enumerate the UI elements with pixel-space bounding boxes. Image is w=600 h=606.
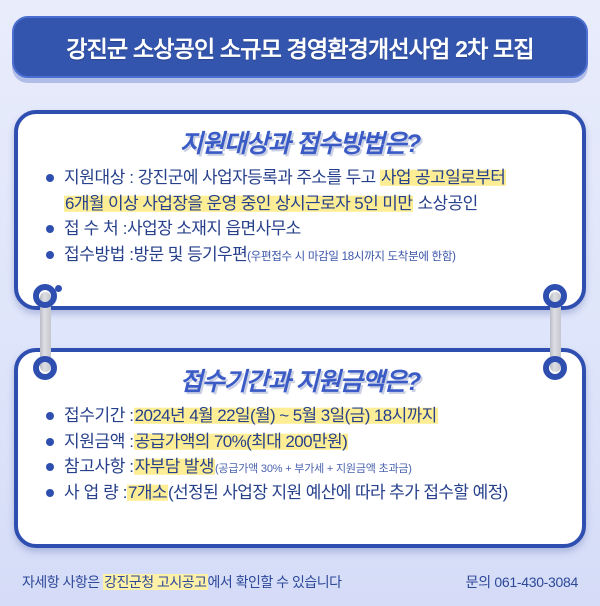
section-heading-1: 지원대상과 접수방법은? bbox=[18, 130, 582, 159]
section-card-schedule-amount: 접수기간과 지원금액은? 접수기간 :2024년 4월 22일(월) ~ 5월 … bbox=[14, 348, 586, 548]
section-card-eligibility: 지원대상과 접수방법은? 지원대상 : 강진군에 사업자등록과 주소를 두고 사… bbox=[14, 110, 586, 310]
list-item-continuation: 6개월 이상 사업장을 운영 중인 상시근로자 5인 미만 소상공인 bbox=[44, 191, 564, 217]
item-value-highlight: 공급가액의 70%(최대 200만원) bbox=[134, 432, 349, 451]
bullet-dot-icon bbox=[46, 463, 54, 471]
item-text-plain: 강진군에 사업자등록과 주소를 두고 bbox=[134, 168, 380, 187]
section-heading-1-highlight: 접수방법은? bbox=[296, 130, 420, 159]
item-label: 접수방법 : bbox=[64, 245, 134, 264]
footer-note-before: 자세항 사항은 bbox=[22, 574, 103, 590]
list-item: 접 수 처 :사업장 소재지 읍면사무소 bbox=[44, 216, 564, 242]
bullet-dot-icon bbox=[46, 412, 54, 420]
bullet-dot-icon bbox=[46, 225, 54, 233]
item-value: 사업장 소재지 읍면사무소 bbox=[127, 219, 301, 238]
item-label: 접수기간 : bbox=[64, 406, 134, 425]
item-value-highlight: 자부담 발생 bbox=[134, 457, 215, 476]
item-value: 방문 및 등기우편 bbox=[134, 245, 248, 264]
list-item: 지원대상 : 강진군에 사업자등록과 주소를 두고 사업 공고일로부터 bbox=[44, 165, 564, 191]
section-heading-2-highlight: 지원금액은? bbox=[296, 368, 420, 397]
schedule-bullet-list: 접수기간 :2024년 4월 22일(월) ~ 5월 3일(금) 18시까지 지… bbox=[18, 403, 582, 506]
bullet-dot-icon bbox=[46, 489, 54, 497]
footer-note-highlight: 강진군청 고시공고 bbox=[103, 574, 207, 590]
item-label: 참고사항 : bbox=[64, 457, 134, 476]
section-heading-1-plain: 지원대상과 bbox=[180, 130, 296, 158]
poster-title-bar: 강진군 소상공인 소규모 경영환경개선사업 2차 모집 bbox=[12, 16, 588, 78]
list-item: 참고사항 :자부담 발생(공급가액 30% + 부가세 + 지원금액 초과금) bbox=[44, 454, 564, 480]
list-item: 접수기간 :2024년 4월 22일(월) ~ 5월 3일(금) 18시까지 bbox=[44, 403, 564, 429]
item-note: (우편접수 시 마감일 18시까지 도착분에 한함) bbox=[247, 251, 456, 263]
eligibility-bullet-list: 지원대상 : 강진군에 사업자등록과 주소를 두고 사업 공고일로부터 6개월 … bbox=[18, 165, 582, 268]
item-tail: (선정된 사업장 지원 예산에 따라 추가 접수할 예정) bbox=[168, 483, 508, 502]
poster-title: 강진군 소상공인 소규모 경영환경개선사업 2차 모집 bbox=[66, 30, 534, 64]
item-text-highlight: 사업 공고일로부터 bbox=[380, 168, 506, 187]
item-value-highlight: 2024년 4월 22일(월) ~ 5월 3일(금) 18시까지 bbox=[134, 406, 438, 425]
connector-ring-top-icon bbox=[33, 284, 57, 308]
title-bar-inner: 강진군 소상공인 소규모 경영환경개선사업 2차 모집 bbox=[12, 16, 588, 78]
item-text-highlight-line2: 6개월 이상 사업장을 운영 중인 상시근로자 5인 미만 bbox=[64, 194, 413, 213]
bullet-dot-icon bbox=[46, 251, 54, 259]
connector-dot-icon bbox=[55, 285, 62, 292]
bullet-dot-icon bbox=[46, 438, 54, 446]
footer-note-after: 에서 확인할 수 있습니다 bbox=[208, 574, 342, 590]
connector-ring-top-icon bbox=[543, 284, 567, 308]
bullet-dot-icon bbox=[46, 174, 54, 182]
section-heading-2-plain: 접수기간과 bbox=[180, 368, 296, 396]
list-item: 접수방법 :방문 및 등기우편(우편접수 시 마감일 18시까지 도착분에 한함… bbox=[44, 242, 564, 268]
footer-contact-phone: 문의 061-430-3084 bbox=[466, 572, 578, 592]
footer-note: 자세항 사항은 강진군청 고시공고에서 확인할 수 있습니다 bbox=[22, 572, 341, 592]
item-text-plain-line2: 소상공인 bbox=[413, 194, 477, 213]
card-connector-left bbox=[28, 284, 62, 380]
item-value-highlight: 7개소 bbox=[127, 483, 168, 502]
connector-ring-bottom-icon bbox=[33, 356, 57, 380]
item-label: 사 업 량 : bbox=[64, 483, 127, 502]
item-label: 지원금액 : bbox=[64, 432, 134, 451]
list-item: 지원금액 :공급가액의 70%(최대 200만원) bbox=[44, 429, 564, 455]
item-label: 접 수 처 : bbox=[64, 219, 127, 238]
poster-footer: 자세항 사항은 강진군청 고시공고에서 확인할 수 있습니다 문의 061-43… bbox=[0, 572, 600, 592]
connector-ring-bottom-icon bbox=[543, 356, 567, 380]
card-connector-right bbox=[538, 284, 572, 380]
item-note: (공급가액 30% + 부가세 + 지원금액 초과금) bbox=[215, 463, 412, 475]
item-label: 지원대상 : bbox=[64, 168, 134, 187]
list-item: 사 업 량 :7개소(선정된 사업장 지원 예산에 따라 추가 접수할 예정) bbox=[44, 480, 564, 506]
section-heading-2: 접수기간과 지원금액은? bbox=[18, 368, 582, 397]
